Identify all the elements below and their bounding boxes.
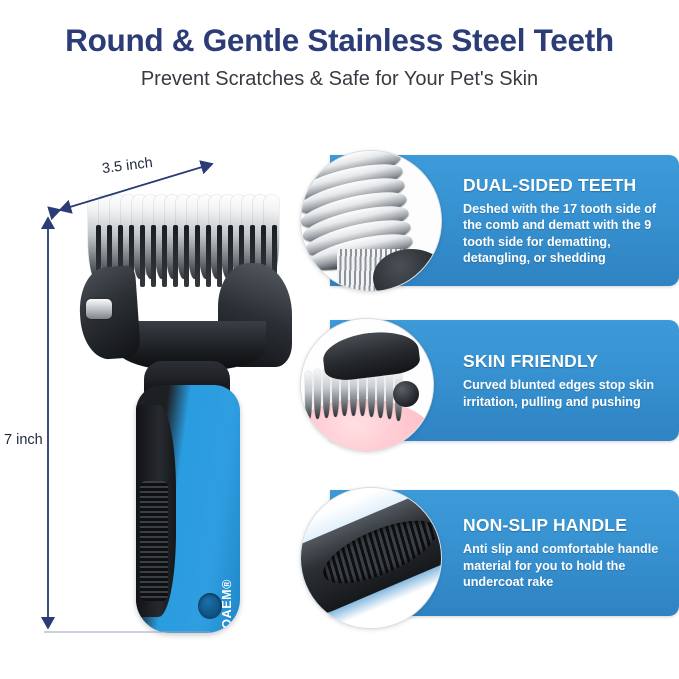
page-title: Round & Gentle Stainless Steel Teeth — [0, 22, 679, 59]
brand-logo: W❤POAEM® — [219, 579, 234, 633]
rake-on-skin-closeup-icon — [300, 318, 434, 452]
infographic-canvas: Round & Gentle Stainless Steel Teeth Pre… — [0, 0, 679, 679]
product-image: W❤POAEM® — [44, 185, 294, 635]
height-dimension-label: 7 inch — [4, 432, 43, 448]
steel-teeth-closeup-icon — [300, 150, 442, 292]
pivot-screw — [86, 299, 112, 319]
product-handle: W❤POAEM® — [136, 385, 240, 633]
feature-body: Anti slip and comfortable handle materia… — [463, 541, 665, 590]
feature-body: Deshed with the 17 tooth side of the com… — [463, 201, 665, 266]
handle-grip-ribs — [140, 481, 168, 601]
product-yoke — [80, 263, 290, 373]
width-dimension-label: 3.5 inch — [101, 155, 153, 177]
feature-title: NON-SLIP HANDLE — [463, 515, 665, 536]
textured-grip-closeup-icon — [300, 487, 442, 629]
feature-body: Curved blunted edges stop skin irritatio… — [463, 377, 665, 410]
feature-title: SKIN FRIENDLY — [463, 351, 665, 372]
feature-title: DUAL-SIDED TEETH — [463, 175, 665, 196]
page-subtitle: Prevent Scratches & Safe for Your Pet's … — [0, 68, 679, 91]
